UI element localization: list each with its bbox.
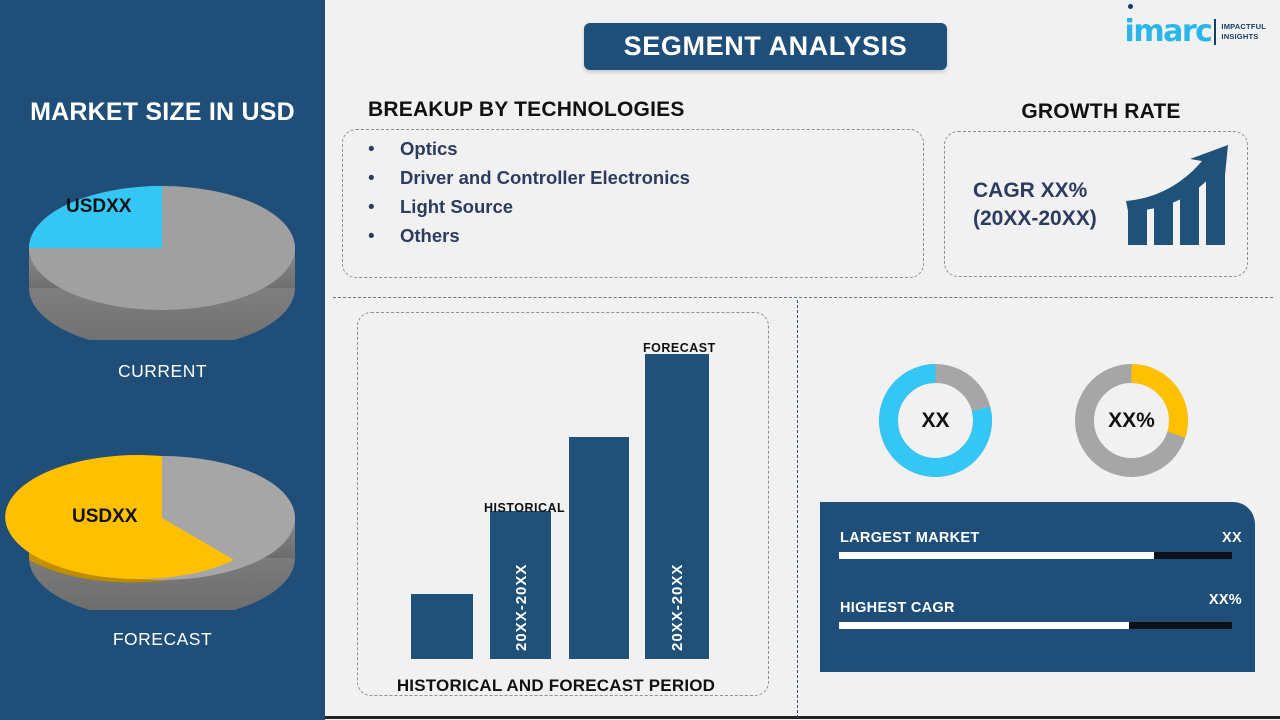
list-item-label: Optics [400, 138, 458, 160]
donut-chart-largest-value: XX [908, 393, 963, 448]
imarc-logo: imarc IMPACTFUL INSIGHTS [1125, 12, 1266, 52]
stat-label-largest-market: LARGEST MARKET [840, 530, 980, 546]
list-item: • Optics [368, 138, 690, 161]
growth-arrow-chart-icon [1124, 143, 1236, 253]
breakup-list: • Optics • Driver and Controller Electro… [368, 138, 690, 254]
bottom-rule [325, 716, 1280, 719]
vertical-divider [797, 300, 798, 718]
breakup-heading: BREAKUP BY TECHNOLOGIES [368, 98, 685, 122]
logo-divider [1214, 19, 1216, 45]
bullet-icon: • [368, 226, 400, 248]
bullet-icon: • [368, 168, 400, 190]
stats-card: LARGEST MARKET XX HIGHEST CAGR XX% [820, 502, 1255, 672]
list-item-label: Light Source [400, 196, 513, 218]
bar-tag-historical: HISTORICAL [484, 501, 565, 515]
bar-1 [411, 594, 473, 659]
bullet-icon: • [368, 139, 400, 161]
stat-fill-highest-cagr [839, 622, 1129, 629]
stat-track-highest-cagr [839, 622, 1232, 629]
bar-4-period-label: 20XX-20XX [669, 529, 686, 651]
horizontal-divider [333, 297, 1273, 298]
pie-current-caption: CURRENT [0, 361, 325, 382]
bar-2-period-label: 20XX-20XX [513, 521, 530, 651]
cagr-text: CAGR XX% (20XX-20XX) [973, 177, 1097, 234]
pie-chart-forecast [0, 430, 325, 610]
logo-tagline-line1: IMPACTFUL [1221, 22, 1266, 32]
bar-chart-axis-label: HISTORICAL AND FORECAST PERIOD [356, 676, 756, 696]
logo-tagline-line2: INSIGHTS [1221, 32, 1266, 42]
list-item: • Light Source [368, 196, 690, 219]
page-title: SEGMENT ANALYSIS [584, 23, 947, 70]
logo-wordmark: imarc [1125, 17, 1212, 47]
list-item: • Driver and Controller Electronics [368, 167, 690, 190]
cagr-line-1: CAGR XX% [973, 177, 1097, 205]
logo-dot-icon [1128, 4, 1133, 9]
pie-chart-current [0, 160, 325, 340]
list-item-label: Driver and Controller Electronics [400, 167, 690, 189]
stat-track-largest-market [839, 552, 1232, 559]
bullet-icon: • [368, 197, 400, 219]
pie-forecast-caption: FORECAST [0, 629, 325, 650]
stat-fill-largest-market [839, 552, 1154, 559]
stat-value-highest-cagr: XX% [1209, 592, 1242, 608]
bar-tag-forecast: FORECAST [643, 341, 716, 355]
growth-rate-heading: GROWTH RATE [941, 100, 1261, 124]
list-item: • Others [368, 225, 690, 248]
stat-label-highest-cagr: HIGHEST CAGR [840, 600, 955, 616]
list-item-label: Others [400, 225, 460, 247]
market-size-sidebar: MARKET SIZE IN USD [0, 0, 325, 720]
donut-chart-highest-value: XX% [1104, 393, 1159, 448]
sidebar-title: MARKET SIZE IN USD [0, 98, 325, 127]
stat-value-largest-market: XX [1222, 530, 1242, 546]
bar-3 [569, 437, 629, 659]
cagr-line-2: (20XX-20XX) [973, 205, 1097, 233]
